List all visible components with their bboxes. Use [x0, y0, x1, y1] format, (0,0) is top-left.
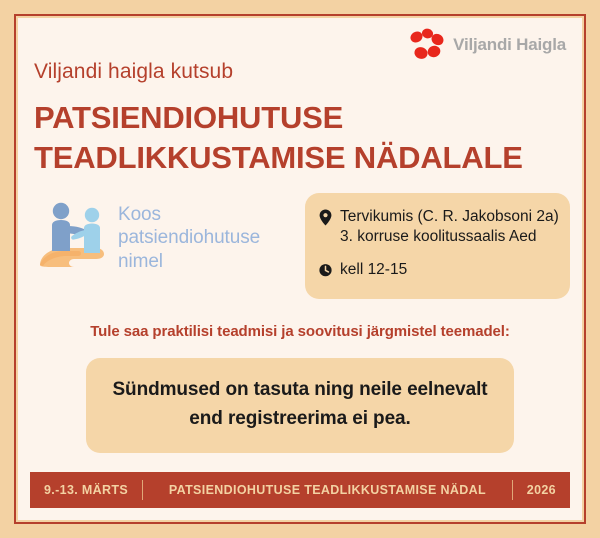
detail-location-line-2: 3. korruse koolitussaalis Aed [340, 227, 559, 247]
title-line-2: TEADLIKKUSTAMISE NÄDALALE [34, 138, 566, 178]
poster: Viljandi Haigla Viljandi haigla kutsub P… [0, 0, 600, 538]
page-title: PATSIENDIOHUTUSE TEADLIKKUSTAMISE NÄDALA… [34, 98, 566, 177]
poster-canvas: Viljandi Haigla Viljandi haigla kutsub P… [18, 18, 582, 520]
detail-row-time: kell 12-15 [319, 260, 558, 285]
detail-location-line-1: Tervikumis (C. R. Jakobsoni 2a) [340, 207, 559, 227]
two-people-on-hand-icon [38, 195, 116, 282]
campaign-line-3: nimel [118, 251, 163, 272]
lead-in-text: Tule saa praktilisi teadmisi ja soovitus… [18, 323, 582, 340]
clock-icon [319, 260, 332, 285]
location-pin-icon [319, 207, 332, 232]
kicker-text: Viljandi haigla kutsub [34, 60, 233, 84]
hospital-name: Viljandi Haigla [453, 35, 566, 55]
footer-bar: 9.-13. MÄRTS PATSIENDIOHUTUSE TEADLIKKUS… [30, 472, 570, 508]
footer-campaign-name: PATSIENDIOHUTUSE TEADLIKKUSTAMISE NÄDAL [143, 483, 512, 497]
flower-icon [407, 28, 445, 62]
notice-text: Sündmused on tasuta ning neile eelnevalt… [106, 376, 494, 433]
campaign-logo-text: Koos patsiendiohutuse nimel [118, 203, 288, 273]
campaign-line-1: Koos [118, 204, 161, 225]
notice-box: Sündmused on tasuta ning neile eelnevalt… [86, 358, 514, 453]
hospital-logo: Viljandi Haigla [407, 28, 566, 62]
footer-year: 2026 [513, 483, 570, 497]
footer-dates: 9.-13. MÄRTS [30, 483, 142, 497]
notice-line-1: Sündmused on tasuta ning neile eelnevalt [106, 376, 494, 405]
detail-row-location: Tervikumis (C. R. Jakobsoni 2a) 3. korru… [319, 207, 558, 248]
detail-location-text: Tervikumis (C. R. Jakobsoni 2a) 3. korru… [340, 207, 559, 248]
campaign-logo: Koos patsiendiohutuse nimel [38, 193, 288, 283]
notice-line-2: end registreerima ei pea. [106, 405, 494, 434]
detail-time-text: kell 12-15 [340, 260, 407, 280]
campaign-line-2: patsiendiohutuse [118, 227, 260, 248]
event-details-box: Tervikumis (C. R. Jakobsoni 2a) 3. korru… [305, 193, 570, 299]
title-line-1: PATSIENDIOHUTUSE [34, 98, 566, 138]
detail-time-line-1: kell 12-15 [340, 260, 407, 280]
